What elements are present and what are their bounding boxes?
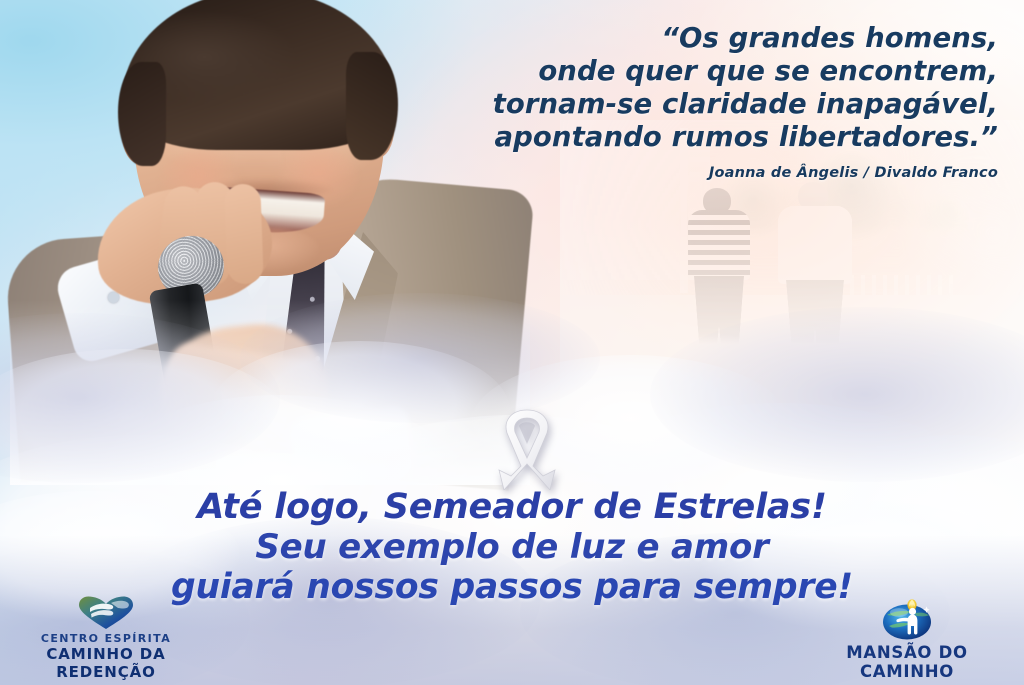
quote-line-2: onde quer que se encontrem,	[358, 55, 998, 88]
portrait-bottom-fade	[10, 300, 530, 485]
white-mourning-ribbon-icon	[481, 404, 573, 490]
logo-mansao-do-caminho[interactable]: MANSÃO DO CAMINHO	[798, 599, 1016, 681]
quote-block: “Os grandes homens, onde quer que se enc…	[358, 22, 998, 181]
headline-line-1: Até logo, Semeador de Estrelas!	[0, 487, 1024, 527]
quote-line-1: “Os grandes homens,	[358, 22, 998, 55]
logo-right-line-1: MANSÃO DO CAMINHO	[798, 643, 1016, 681]
quote-line-3: tornam-se claridade inapagável,	[358, 88, 998, 121]
headline-line-2: Seu exemplo de luz e amor	[0, 527, 1024, 567]
logo-left-line-1: CENTRO ESPÍRITA	[6, 632, 206, 645]
hair-side-left	[118, 62, 166, 166]
logo-centro-espirita-caminho-da-redencao[interactable]: CENTRO ESPÍRITA CAMINHO DA REDENÇÃO	[6, 596, 206, 681]
quote-line-4: apontando rumos libertadores.”	[358, 121, 998, 154]
globe-figure-icon	[881, 599, 933, 641]
memorial-poster: “Os grandes homens, onde quer que se enc…	[0, 0, 1024, 685]
headline-block: Até logo, Semeador de Estrelas! Seu exem…	[0, 487, 1024, 607]
quote-attribution: Joanna de Ângelis / Divaldo Franco	[358, 165, 998, 181]
finger-three	[224, 183, 263, 284]
heart-hands-icon	[77, 596, 135, 630]
logo-left-line-2: CAMINHO DA REDENÇÃO	[6, 645, 206, 681]
